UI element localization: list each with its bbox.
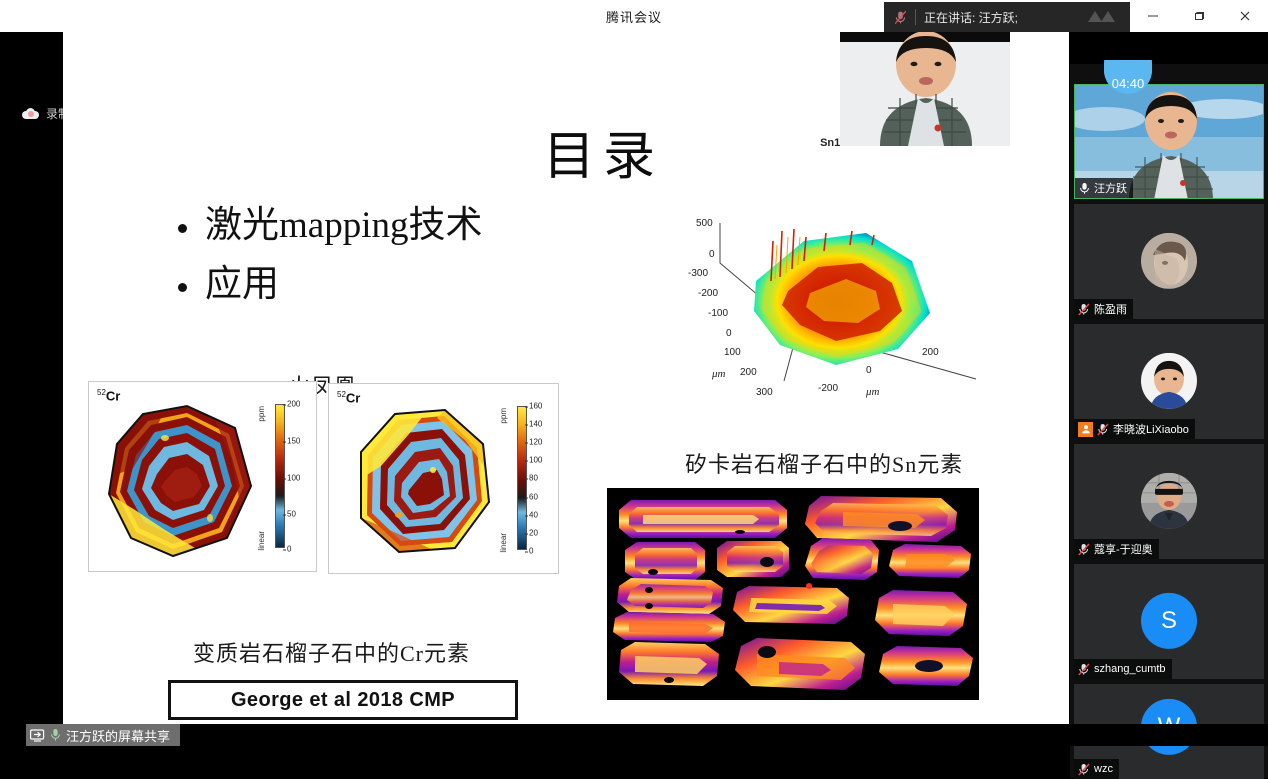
shared-screen-slide[interactable]: 目录 激光mapping技术 应用 火凤凰 52Cr <box>63 32 1069 732</box>
participant-name-chip: szhang_cumtb <box>1074 659 1172 679</box>
bullet-text: 应用 <box>205 261 279 308</box>
active-speaker-banner: 正在讲话: 汪方跃; <box>884 2 1130 32</box>
svg-text:-100: -100 <box>708 308 728 319</box>
participant-tile[interactable]: 蔻享-于迎奥 <box>1074 444 1264 559</box>
close-button[interactable] <box>1222 0 1268 32</box>
participant-name-chip: 蔻享-于迎奥 <box>1074 539 1159 559</box>
participant-name-chip: 汪方跃 <box>1075 178 1133 198</box>
tick-label: 80 <box>529 474 538 483</box>
screen-share-chip[interactable]: 汪方跃的屏幕共享 <box>26 724 180 746</box>
tick-label: 100 <box>529 456 542 465</box>
mic-on-icon <box>50 728 61 742</box>
sn118-surface-plot: 500 0 -300 -200 -100 0 100 200 300 μm 20… <box>676 133 996 428</box>
svg-text:-300: -300 <box>688 268 708 279</box>
svg-text:300: 300 <box>756 387 773 398</box>
colorbar-unit: ppm <box>257 406 266 422</box>
tick-label: 40 <box>529 511 538 520</box>
svg-text:200: 200 <box>922 347 939 358</box>
host-icon <box>1078 422 1093 437</box>
tick-label: 200 <box>287 400 300 409</box>
avatar <box>1141 232 1197 288</box>
participant-name: 陈盈雨 <box>1094 301 1127 317</box>
list-item: 应用 <box>178 261 482 308</box>
maximize-button[interactable] <box>1176 0 1222 32</box>
screen-share-icon <box>30 729 45 742</box>
svg-text:0: 0 <box>866 365 872 376</box>
meeting-window: 腾讯会议 正在讲话: 汪方跃; <box>0 0 1268 746</box>
tick-label: 150 <box>287 437 300 446</box>
mic-muted-icon <box>1078 763 1090 776</box>
avatar <box>1141 472 1197 528</box>
citation-box: George et al 2018 CMP <box>168 680 518 720</box>
participant-tile[interactable]: S szhang_cumtb <box>1074 564 1264 679</box>
cr-grain-map <box>337 400 507 565</box>
presenter-webcam-overlay[interactable] <box>840 32 1010 146</box>
slide-bullet-list: 激光mapping技术 应用 <box>178 202 482 321</box>
colorbar-ticks: 160 140 120 100 80 60 40 20 0 <box>529 402 557 554</box>
colorbar-left: ppm linear 200 150 100 50 0 <box>255 400 315 555</box>
tick-label: 20 <box>529 529 538 538</box>
mic-muted-icon <box>1078 663 1090 676</box>
tick-label: 0 <box>287 545 291 554</box>
svg-text:500: 500 <box>696 218 713 229</box>
avatar: S <box>1141 592 1197 648</box>
tick-label: 100 <box>287 474 300 483</box>
minimize-button[interactable] <box>1130 0 1176 32</box>
participant-name: 蔻享-于迎奥 <box>1094 541 1153 557</box>
mic-muted-icon <box>894 10 907 25</box>
screen-share-bar: 汪方跃的屏幕共享 <box>0 724 1268 746</box>
bullet-text: 激光mapping技术 <box>205 202 482 249</box>
screen-share-label: 汪方跃的屏幕共享 <box>66 726 170 745</box>
tick-label: 140 <box>529 420 542 429</box>
svg-text:μm: μm <box>711 368 726 380</box>
svg-text:200: 200 <box>740 367 757 378</box>
colorbar-right: ppm linear 160 140 120 100 80 60 40 20 0 <box>497 402 557 557</box>
participant-name: szhang_cumtb <box>1094 663 1166 675</box>
svg-text:100: 100 <box>724 347 741 358</box>
participant-name-chip: 李晓波LiXiaobo <box>1074 419 1195 439</box>
active-speaker-text: 正在讲话: 汪方跃; <box>924 9 1018 26</box>
banner-divider <box>915 9 916 25</box>
mic-muted-icon <box>1078 303 1090 316</box>
zircon-cl-figure <box>607 488 979 700</box>
participant-tile[interactable]: 汪方跃 <box>1074 84 1264 199</box>
tick-label: 120 <box>529 438 542 447</box>
colorbar-unit: ppm <box>499 408 508 424</box>
participant-tile[interactable]: 李晓波LiXiaobo <box>1074 324 1264 439</box>
window-controls <box>1130 0 1268 32</box>
list-item: 激光mapping技术 <box>178 202 482 249</box>
colorbar-scale: linear <box>257 531 266 551</box>
cr-map-left-figure: 52Cr <box>88 381 317 572</box>
zircon-cl-image <box>607 488 979 700</box>
tick-label: 0 <box>529 547 533 556</box>
window-titlebar: 腾讯会议 正在讲话: 汪方跃; <box>0 0 1268 32</box>
app-logo-icon <box>1082 9 1122 25</box>
participant-name: 李晓波LiXiaobo <box>1113 421 1189 437</box>
caption-cr: 变质岩石榴子石中的Cr元素 <box>193 636 470 668</box>
mic-muted-icon <box>1078 543 1090 556</box>
mic-muted-icon <box>1097 423 1109 436</box>
bullet-dot-icon <box>178 283 187 292</box>
participant-name: wzc <box>1094 763 1113 775</box>
cr-grain-map <box>95 398 265 563</box>
tick-label: 50 <box>287 510 296 519</box>
svg-text:-200: -200 <box>698 288 718 299</box>
tick-label: 60 <box>529 493 538 502</box>
timer-label: 04:40 <box>1112 76 1145 91</box>
colorbar-ticks: 200 150 100 50 0 <box>287 400 315 552</box>
caption-sn: 矽卡岩石榴子石中的Sn元素 <box>685 447 963 479</box>
participant-tile[interactable]: 陈盈雨 <box>1074 204 1264 319</box>
participant-name-chip: wzc <box>1074 759 1119 779</box>
avatar <box>1141 352 1197 408</box>
recording-cloud-icon <box>22 108 39 119</box>
bullet-dot-icon <box>178 224 187 233</box>
svg-text:-200: -200 <box>818 383 838 394</box>
mic-on-icon <box>1079 182 1090 195</box>
cr-map-right-figure: 52Cr <box>328 383 559 574</box>
sn118-figure: Sn118 500 0 -300 -200 -100 0 100 2 <box>676 133 996 428</box>
svg-text:0: 0 <box>709 249 715 260</box>
colorbar-gradient <box>275 404 285 548</box>
meeting-stage: 录制中 目录 激光mapping技术 应用 火凤凰 52Cr <box>0 32 1268 732</box>
tick-label: 160 <box>529 402 542 411</box>
avatar-initial: S <box>1161 606 1177 634</box>
svg-text:μm: μm <box>865 386 880 398</box>
participants-panel: 汪方跃 <box>1070 64 1268 778</box>
participant-name: 汪方跃 <box>1094 180 1127 196</box>
svg-text:0: 0 <box>726 328 732 339</box>
participant-name-chip: 陈盈雨 <box>1074 299 1133 319</box>
colorbar-scale: linear <box>499 533 508 553</box>
